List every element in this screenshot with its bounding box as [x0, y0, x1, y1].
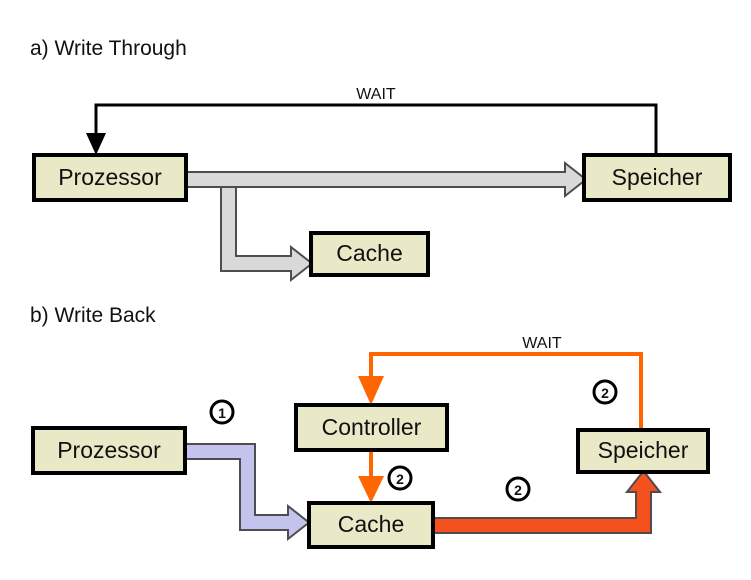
node-prozessor-a-label: Prozessor — [58, 164, 162, 190]
step-badge-2-wait: 2 — [594, 381, 616, 403]
step-badge-2-ctrl-cache: 2 — [389, 467, 411, 489]
step-badge-1-label: 1 — [218, 405, 226, 421]
node-speicher-a[interactable]: Speicher — [584, 155, 730, 200]
node-prozessor-b-label: Prozessor — [57, 437, 161, 463]
node-controller-b-label: Controller — [322, 414, 422, 440]
node-prozessor-b[interactable]: Prozessor — [33, 428, 185, 473]
step-badge-2-wait-label: 2 — [601, 385, 609, 401]
step-badge-2-ctrl-cache-label: 2 — [396, 471, 404, 487]
section-b-title: b) Write Back — [30, 304, 156, 327]
node-speicher-b-label: Speicher — [598, 437, 689, 463]
node-controller-b[interactable]: Controller — [296, 405, 447, 450]
step-badge-2-cache-mem-label: 2 — [514, 482, 522, 498]
node-cache-a-label: Cache — [336, 240, 402, 266]
step-badge-2-cache-mem: 2 — [507, 478, 529, 500]
step-badge-1-proc-cache: 1 — [211, 401, 233, 423]
node-cache-b-label: Cache — [338, 511, 404, 537]
node-prozessor-a[interactable]: Prozessor — [34, 155, 186, 200]
diagram-canvas: a) Write Through WAIT Prozessor Cache — [0, 0, 751, 580]
edge-wait-b-label: WAIT — [522, 335, 562, 352]
edge-wait-a-label: WAIT — [356, 86, 396, 103]
node-cache-a[interactable]: Cache — [311, 233, 428, 275]
cache-write-policy-diagram: a) Write Through WAIT Prozessor Cache — [0, 0, 751, 580]
node-cache-b[interactable]: Cache — [309, 503, 433, 547]
node-speicher-b[interactable]: Speicher — [578, 430, 708, 472]
section-a-title: a) Write Through — [30, 37, 187, 60]
node-speicher-a-label: Speicher — [612, 164, 703, 190]
